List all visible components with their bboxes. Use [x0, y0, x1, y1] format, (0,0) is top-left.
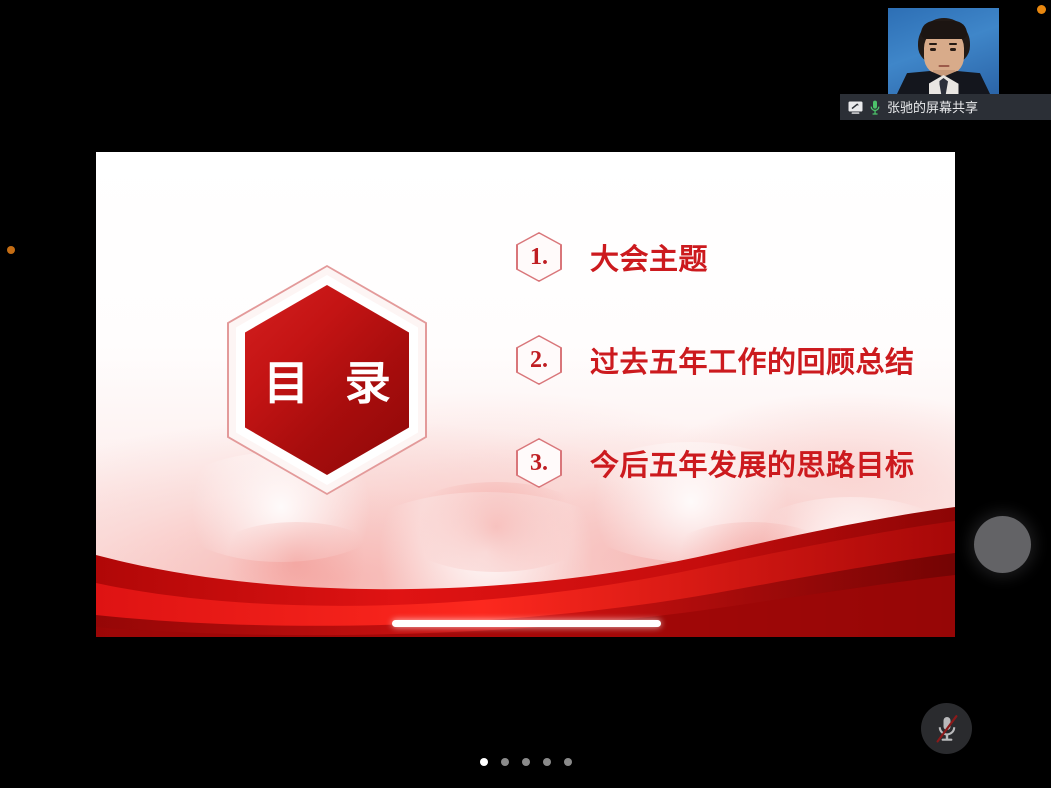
toc-item-3[interactable]: 3. 今后五年发展的思路目标	[516, 438, 936, 488]
ribbon-decoration	[96, 507, 955, 637]
toc-item-1[interactable]: 1. 大会主题	[516, 232, 936, 282]
toc-number-hexagon-3: 3.	[516, 438, 562, 488]
app-root: 张驰的屏幕共享 目 录 1.	[0, 0, 1051, 788]
toc-item-text: 今后五年发展的思路目标	[590, 442, 915, 484]
screen-share-status-bar: 张驰的屏幕共享	[840, 94, 1051, 120]
screen-share-label: 张驰的屏幕共享	[887, 101, 978, 114]
portrait-mouth	[938, 65, 949, 67]
microphone-muted-icon	[934, 714, 960, 744]
table-of-contents-hexagon: 目 录	[227, 265, 427, 495]
portrait-eye-left	[930, 48, 936, 51]
toc-number-label: 2.	[530, 347, 548, 374]
toc-number-hexagon-2: 2.	[516, 335, 562, 385]
status-indicator-dot-left	[7, 246, 15, 254]
portrait-fringe	[921, 21, 967, 39]
portrait-brow-left	[929, 43, 937, 45]
hexagon-label: 目 录	[251, 347, 403, 413]
slide-progress-bar[interactable]	[392, 620, 661, 627]
microphone-icon	[870, 100, 880, 115]
pager-dots[interactable]	[0, 758, 1051, 766]
pager-dot-1[interactable]	[480, 758, 488, 766]
toc-number-label: 3.	[530, 450, 548, 477]
pager-dot-2[interactable]	[501, 758, 509, 766]
status-indicator-dot-top-right	[1037, 5, 1046, 14]
floating-action-circle[interactable]	[974, 516, 1031, 573]
participant-portrait	[888, 8, 999, 97]
microphone-mute-button[interactable]	[921, 703, 972, 754]
table-of-contents-list: 1. 大会主题 2. 过去五年工作的回顾总结 3. 今后五年发展的思路目标	[516, 232, 936, 488]
portrait-brow-right	[949, 43, 957, 45]
pager-dot-4[interactable]	[543, 758, 551, 766]
portrait-eye-right	[950, 48, 956, 51]
toc-number-label: 1.	[530, 244, 548, 271]
pager-dot-3[interactable]	[522, 758, 530, 766]
pager-dot-5[interactable]	[564, 758, 572, 766]
toc-item-2[interactable]: 2. 过去五年工作的回顾总结	[516, 335, 936, 385]
toc-number-hexagon-1: 1.	[516, 232, 562, 282]
toc-item-text: 过去五年工作的回顾总结	[590, 339, 915, 381]
toc-item-text: 大会主题	[590, 236, 708, 278]
selfview-video-thumbnail[interactable]	[888, 8, 999, 97]
shared-slide[interactable]: 目 录 1. 大会主题 2. 过去五年工作的回顾总结	[96, 152, 955, 637]
screen-share-icon	[848, 101, 863, 114]
